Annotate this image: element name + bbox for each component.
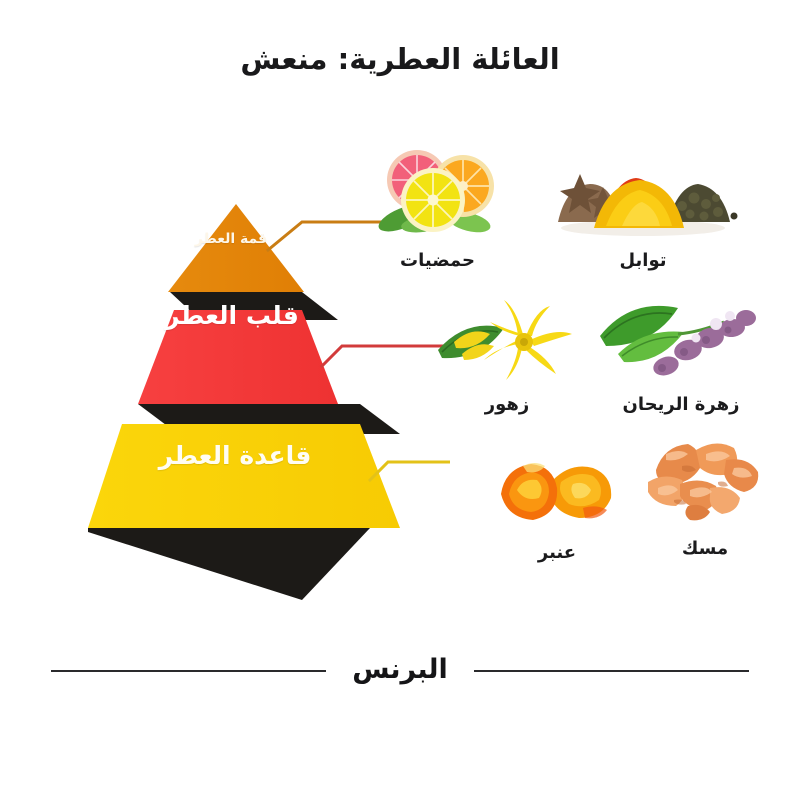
heart-tier [138,310,338,404]
ingredient-label-basil: زهرة الريحان [596,394,766,415]
amber-resin-icon [487,440,627,536]
ingredient-label-musk: مسك [630,538,780,559]
heart-tier-connector [322,346,442,366]
ingredient-label-spice: توابل [548,250,738,271]
basil-flower-icon [596,288,766,388]
ingredient-spice: توابل [548,142,738,271]
base-tier-shadow [88,528,370,600]
ingredient-label-flower: زهور [432,394,582,415]
ingredient-flower: زهور [432,292,582,415]
spice-piles-icon [548,142,738,244]
top-tier [168,204,304,292]
footer-rule-right [474,670,749,672]
base-tier [88,424,400,528]
page-title: العائلة العطرية: منعش [0,42,800,76]
citrus-slices-icon [365,140,510,244]
ingredient-label-citrus: حمضيات [365,250,510,271]
musk-chunks-icon [630,426,780,532]
ingredient-basil: زهرة الريحان [596,288,766,415]
ingredient-citrus: حمضيات [365,140,510,271]
brand-name: البرنس [326,654,474,685]
infographic-canvas: العائلة العطرية: منعش [0,0,800,800]
footer: البرنس [0,648,800,694]
yellow-flower-icon [432,292,582,388]
ingredient-musk: مسك [630,426,780,559]
footer-rule-left [51,670,326,672]
ingredient-label-amber: عنبر [487,542,627,563]
ingredient-amber: عنبر [487,440,627,563]
base-tier-connector [370,462,450,480]
